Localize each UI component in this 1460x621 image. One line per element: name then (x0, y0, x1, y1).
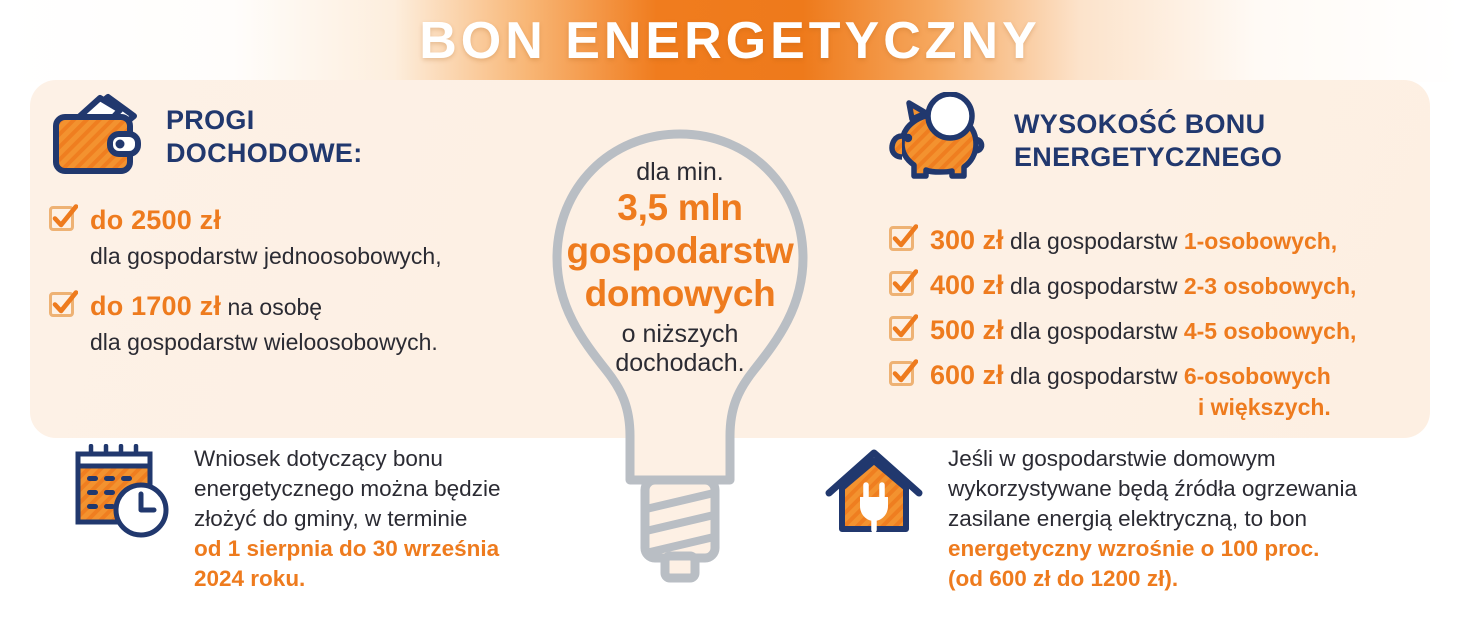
benefit-amount: 600 zł (930, 360, 1004, 390)
deadline-line-2: energetycznego można będzie (194, 476, 500, 501)
deadline-line-1: Wniosek dotyczący bonu (194, 446, 443, 471)
threshold-description: dla gospodarstw jednoosobowych, (90, 241, 442, 271)
checkbox-checked-icon (888, 358, 918, 393)
benefit-middle: dla gospodarstw (1004, 318, 1184, 344)
income-thresholds-header: PROGI DOCHODOWE: (48, 92, 518, 181)
threshold-suffix: na osobę (221, 294, 322, 320)
benefit-amount-header: WYSOKOŚĆ BONU ENERGETYCZNEGO (888, 92, 1418, 189)
deadline-highlight-1: od 1 sierpnia do 30 września (194, 536, 499, 561)
electric-heating-bonus-note: Jeśli w gospodarstwie domowym wykorzysty… (822, 444, 1432, 594)
list-item: 600 zł dla gospodarstw 6-osobowych i wię… (888, 358, 1418, 423)
benefit-household-size: 1-osobowych, (1184, 228, 1337, 254)
bulb-line-4: domowych (545, 273, 815, 316)
application-deadline-note: Wniosek dotyczący bonu energetycznego mo… (72, 444, 542, 594)
application-deadline-text: Wniosek dotyczący bonu energetycznego mo… (194, 444, 500, 594)
bulb-line-3: gospodarstw (545, 230, 815, 273)
benefit-middle: dla gospodarstw (1004, 363, 1184, 389)
benefit-amount: 400 zł (930, 270, 1004, 300)
income-title-line-2: DOCHODOWE: (166, 138, 362, 168)
piggy-bank-icon (888, 92, 992, 189)
list-item-body: do 2500 zł dla gospodarstw jednoosobowyc… (90, 203, 442, 271)
income-thresholds-list: do 2500 zł dla gospodarstw jednoosobowyc… (48, 203, 518, 357)
threshold-description: dla gospodarstw wieloosobowych. (90, 327, 438, 357)
checkbox-checked-icon (48, 203, 78, 238)
deadline-line-3: złożyć do gminy, w terminie (194, 506, 467, 531)
bonus-highlight-2: (od 600 zł do 1200 zł). (948, 566, 1178, 591)
bulb-line-1: dla min. (545, 158, 815, 187)
bulb-line-6: dochodach. (545, 349, 815, 378)
benefit-amount-list: 300 zł dla gospodarstw 1-osobowych, 400 … (888, 223, 1418, 423)
checkbox-checked-icon (888, 223, 918, 258)
list-item: do 1700 zł na osobę dla gospodarstw wiel… (48, 289, 518, 357)
benefit-household-size-continuation: i większych. (930, 393, 1331, 423)
benefit-amount: 300 zł (930, 225, 1004, 255)
threshold-amount: do 1700 zł (90, 291, 221, 321)
benefit-middle: dla gospodarstw (1004, 273, 1184, 299)
page-title: BON ENERGETYCZNY (419, 15, 1041, 67)
benefit-amount-section: WYSOKOŚĆ BONU ENERGETYCZNEGO 300 zł dla … (888, 92, 1418, 433)
bonus-line-2: wykorzystywane będą źródła ogrzewania (948, 476, 1357, 501)
electric-heating-bonus-text: Jeśli w gospodarstwie domowym wykorzysty… (948, 444, 1357, 594)
house-plug-icon (822, 444, 926, 547)
checkbox-checked-icon (48, 289, 78, 324)
header-banner: BON ENERGETYCZNY (0, 0, 1460, 82)
benefit-household-size: 2-3 osobowych, (1184, 273, 1357, 299)
benefit-household-size: 6-osobowych (1184, 363, 1331, 389)
benefit-title-line-1: WYSOKOŚĆ BONU (1014, 109, 1265, 139)
income-title-line-1: PROGI (166, 105, 255, 135)
list-item-body: 500 zł dla gospodarstw 4-5 osobowych, (930, 313, 1356, 348)
list-item: do 2500 zł dla gospodarstw jednoosobowyc… (48, 203, 518, 271)
infographic-root: BON ENERGETYCZNY dla min. 3,5 m (0, 0, 1460, 616)
checkbox-checked-icon (888, 268, 918, 303)
deadline-highlight-2: 2024 roku. (194, 566, 305, 591)
bulb-line-5: o niższych (545, 320, 815, 349)
bulb-line-2: 3,5 mln (545, 187, 815, 230)
list-item: 300 zł dla gospodarstw 1-osobowych, (888, 223, 1418, 258)
checkbox-checked-icon (888, 313, 918, 348)
list-item-body: 600 zł dla gospodarstw 6-osobowych i wię… (930, 358, 1331, 423)
list-item-body: 300 zł dla gospodarstw 1-osobowych, (930, 223, 1337, 258)
bonus-line-1: Jeśli w gospodarstwie domowym (948, 446, 1276, 471)
list-item: 400 zł dla gospodarstw 2-3 osobowych, (888, 268, 1418, 303)
calendar-clock-icon (72, 444, 172, 547)
benefit-household-size: 4-5 osobowych, (1184, 318, 1357, 344)
list-item: 500 zł dla gospodarstw 4-5 osobowych, (888, 313, 1418, 348)
lightbulb-text: dla min. 3,5 mln gospodarstw domowych o … (545, 158, 815, 378)
list-item-body: 400 zł dla gospodarstw 2-3 osobowych, (930, 268, 1356, 303)
threshold-amount: do 2500 zł (90, 205, 221, 235)
benefit-amount: 500 zł (930, 315, 1004, 345)
bonus-line-3: zasilane energią elektryczną, to bon (948, 506, 1307, 531)
benefit-title-line-2: ENERGETYCZNEGO (1014, 142, 1282, 172)
bonus-highlight-1: energetyczny wzrośnie o 100 proc. (948, 536, 1319, 561)
benefit-middle: dla gospodarstw (1004, 228, 1184, 254)
income-thresholds-section: PROGI DOCHODOWE: do 2500 zł dla gospodar… (48, 92, 518, 375)
income-thresholds-title: PROGI DOCHODOWE: (166, 104, 362, 170)
benefit-amount-title: WYSOKOŚĆ BONU ENERGETYCZNEGO (1014, 108, 1282, 174)
wallet-icon (48, 92, 144, 181)
list-item-body: do 1700 zł na osobę dla gospodarstw wiel… (90, 289, 438, 357)
